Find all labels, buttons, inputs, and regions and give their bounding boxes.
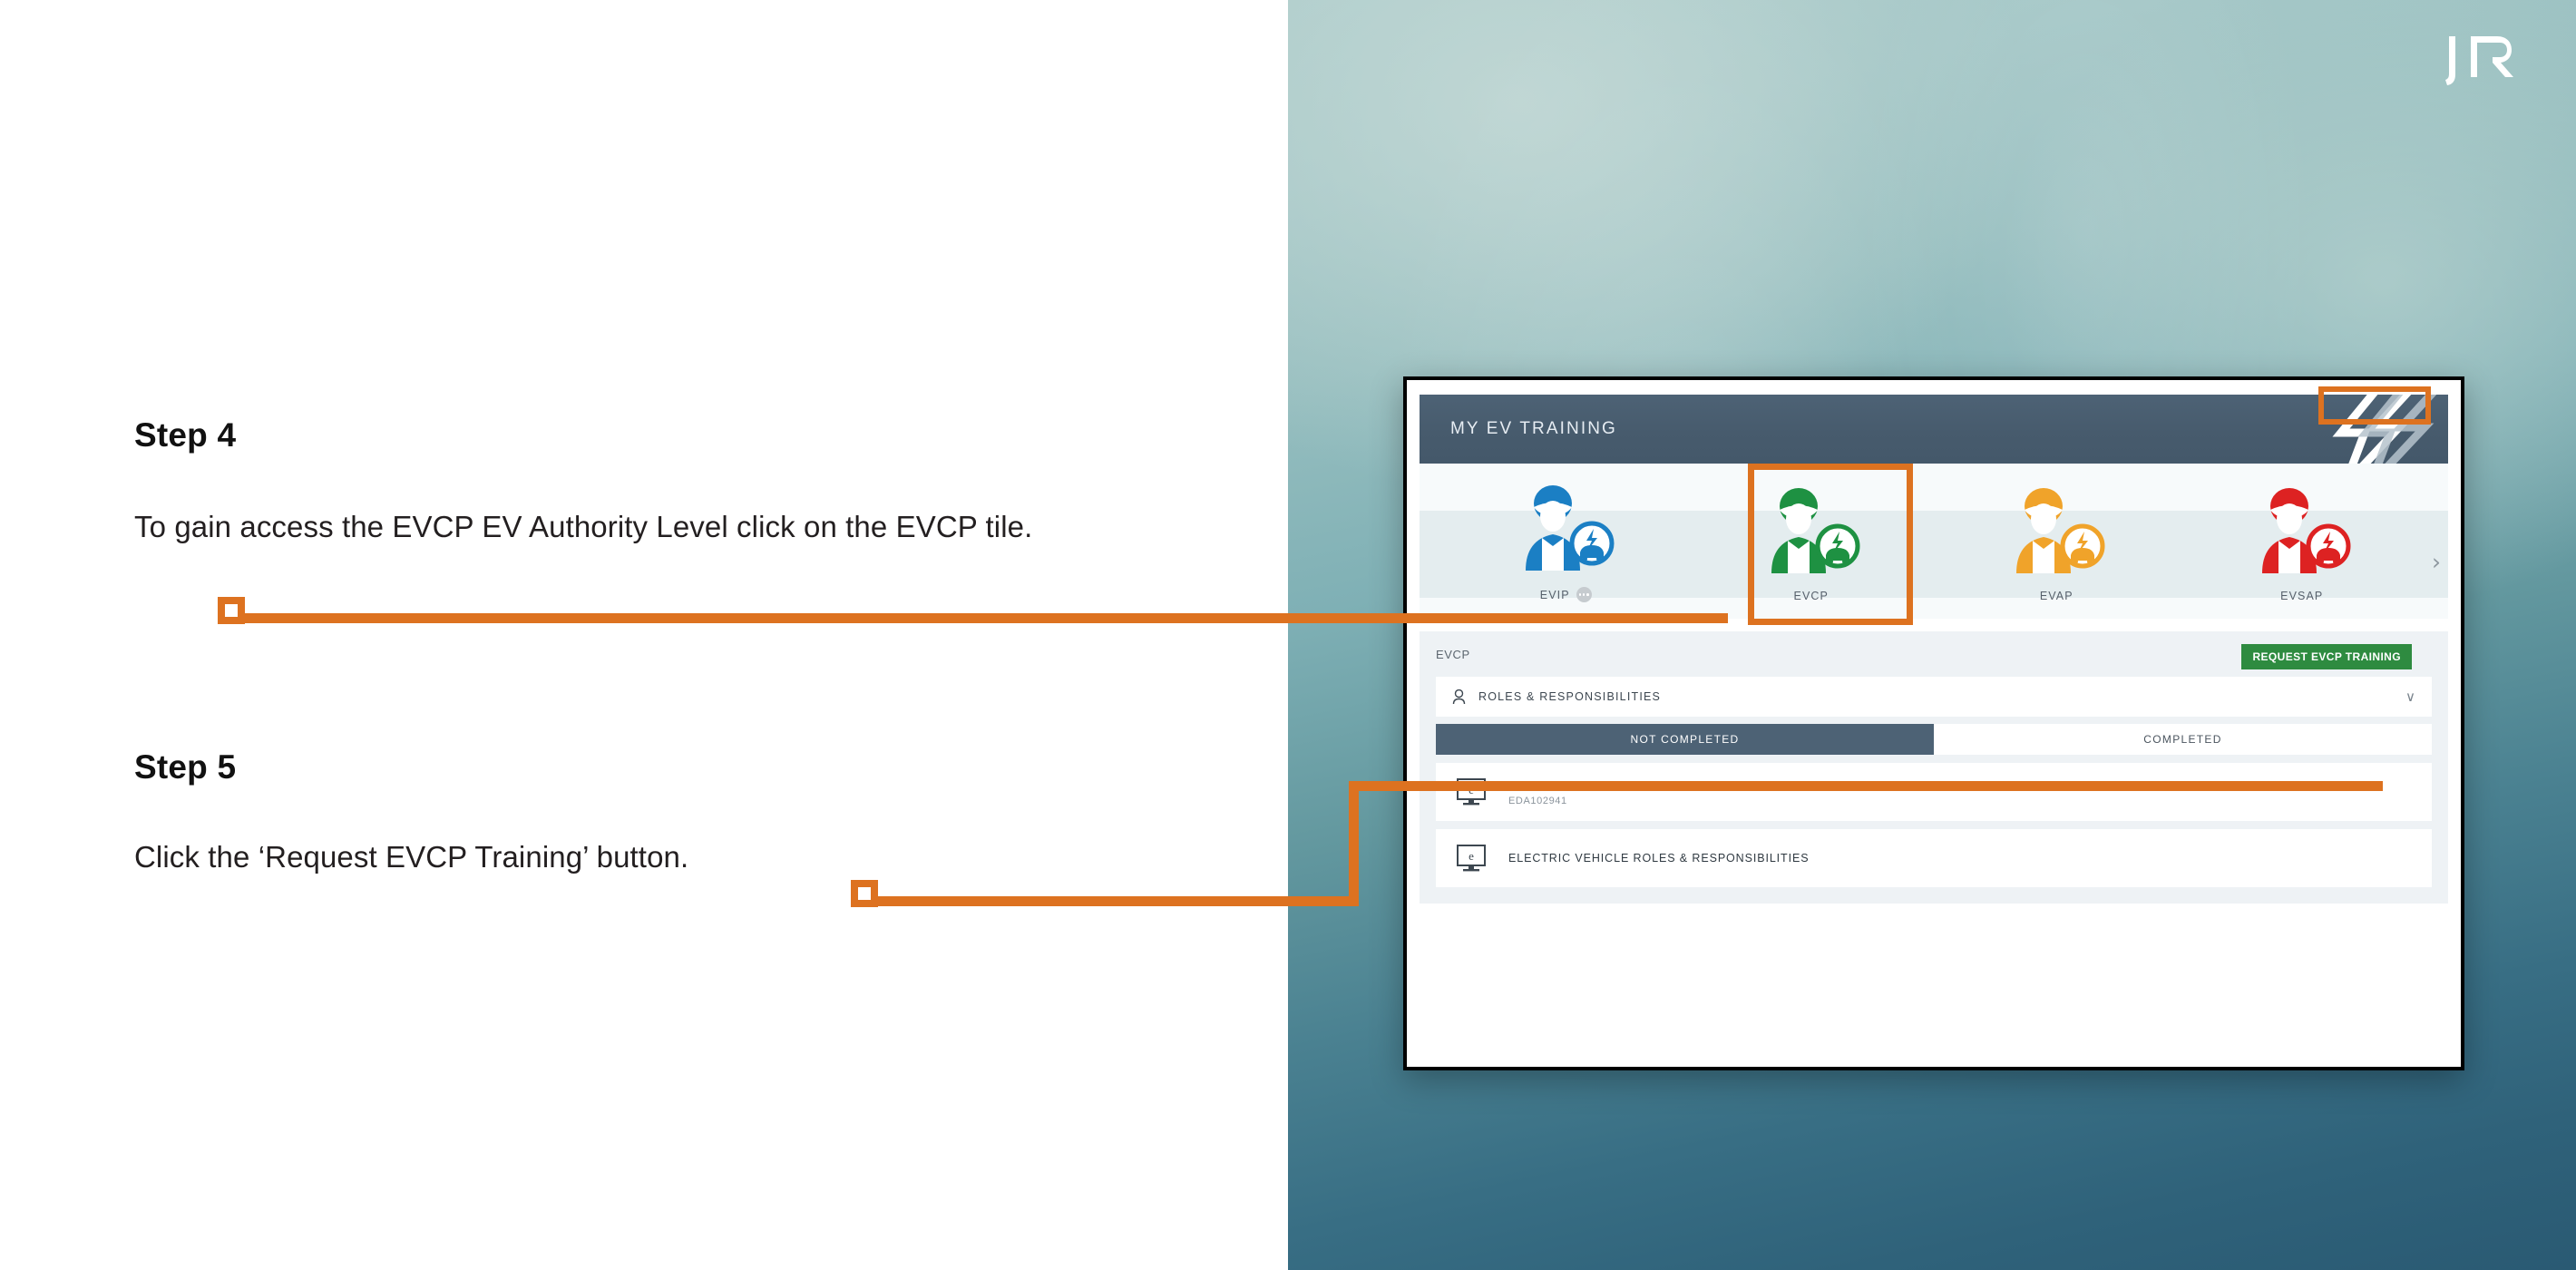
step-5-marker [851, 880, 878, 907]
person-icon [1452, 689, 1466, 705]
completion-tabs: NOT COMPLETED COMPLETED [1436, 724, 2432, 755]
evcp-tile-highlight [1748, 464, 1913, 625]
step-4-heading: Step 4 [134, 417, 1168, 454]
svg-text:e: e [1469, 849, 1474, 863]
technician-avatar-icon [2253, 486, 2351, 581]
instructions-panel: Step 4 To gain access the EVCP EV Author… [0, 0, 1288, 1270]
authority-level-carousel: EVIP [1420, 464, 2448, 619]
tile-label-evap: EVAP [2040, 590, 2073, 602]
step-5-description: Click the ‘Request EVCP Training’ button… [134, 837, 1168, 877]
course-list-item[interactable]: e ELECTRIC VEHICLE WORKSHOP SAFETY EDA10… [1436, 763, 2432, 821]
roles-label: ROLES & RESPONSIBILITIES [1478, 690, 1661, 703]
roles-responsibilities-accordion[interactable]: ROLES & RESPONSIBILITIES ∨ [1436, 677, 2432, 717]
training-content-card: EVCP REQUEST EVCP TRAINING ROLES & RESPO… [1420, 631, 2448, 904]
tab-not-completed[interactable]: NOT COMPLETED [1436, 724, 1934, 755]
tile-evip[interactable]: EVIP [1443, 484, 1689, 606]
step-5-block: Step 5 Click the ‘Request EVCP Training’… [134, 749, 1168, 876]
app-title: MY EV TRAINING [1420, 419, 1617, 439]
tile-evsap[interactable]: EVSAP [2180, 486, 2425, 606]
step-5-heading: Step 5 [134, 749, 1168, 786]
technician-avatar-icon [1517, 484, 1615, 578]
tiles-row: EVIP [1420, 484, 2448, 606]
step-4-block: Step 4 To gain access the EVCP EV Author… [134, 417, 1168, 546]
course-list-item[interactable]: e ELECTRIC VEHICLE ROLES & RESPONSIBILIT… [1436, 829, 2432, 887]
step-5-connector-h2 [1349, 781, 2383, 791]
course-title: ELECTRIC VEHICLE ROLES & RESPONSIBILITIE… [1508, 850, 1809, 867]
application-screenshot-panel: MY EV TRAINING [1403, 376, 2464, 1070]
step-5-connector-h1 [876, 896, 1349, 906]
step-4-connector-line [243, 613, 1728, 623]
tile-evap[interactable]: EVAP [1934, 486, 2180, 606]
tile-label-evsap: EVSAP [2280, 590, 2323, 602]
jlr-logo [2436, 33, 2538, 89]
elearning-monitor-icon: e [1456, 844, 1488, 873]
tile-label-evip: EVIP [1540, 587, 1592, 602]
step-5-connector-v [1349, 781, 1359, 906]
tab-completed[interactable]: COMPLETED [1934, 724, 2432, 755]
technician-avatar-icon [2007, 486, 2105, 581]
tile-badge-icon [1576, 587, 1592, 602]
chevron-right-icon[interactable]: › [2432, 551, 2441, 573]
step-4-description: To gain access the EVCP EV Authority Lev… [134, 507, 1168, 547]
request-evcp-training-button[interactable]: REQUEST EVCP TRAINING [2241, 644, 2412, 669]
request-button-highlight [2318, 386, 2431, 425]
course-code: EDA102941 [1508, 796, 1760, 806]
step-4-marker [218, 597, 245, 624]
chevron-down-icon[interactable]: ∨ [2405, 689, 2415, 705]
app-header: MY EV TRAINING [1420, 395, 2448, 464]
